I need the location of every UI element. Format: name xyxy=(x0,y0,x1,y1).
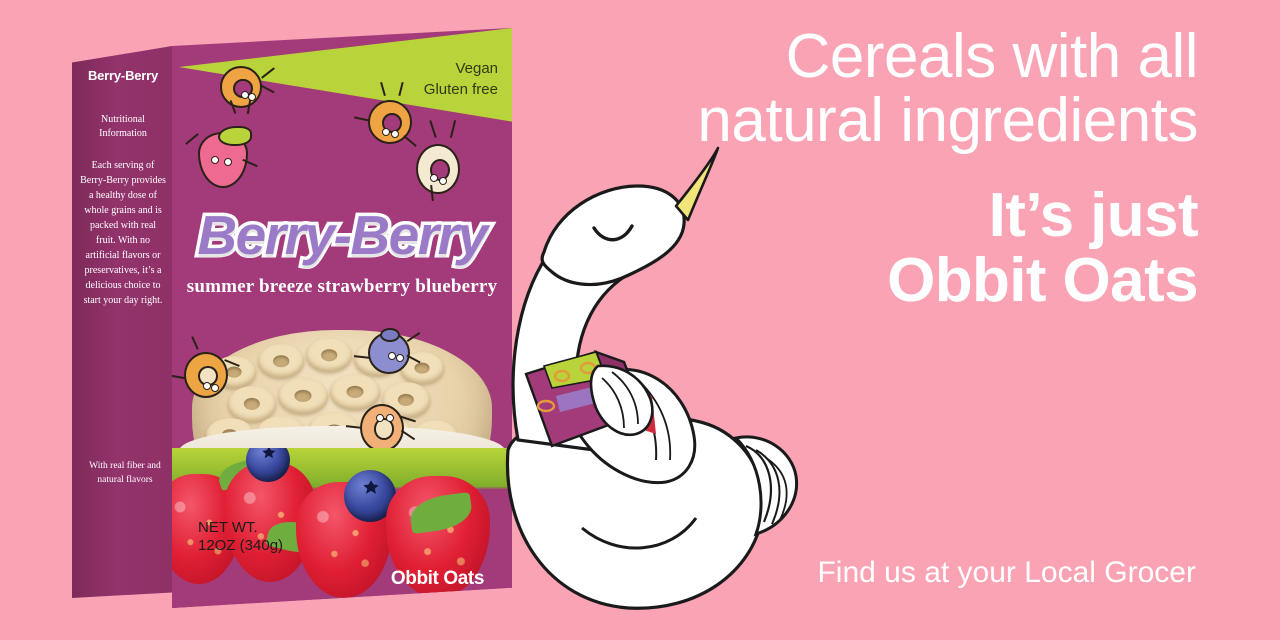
character-eye xyxy=(224,158,232,166)
character-blueberry xyxy=(368,332,410,374)
character-antenna xyxy=(450,120,456,138)
headline: Cereals with all natural ingredients xyxy=(638,24,1198,155)
oat-ring xyxy=(306,338,352,372)
oat-ring xyxy=(278,378,328,414)
headline-line-2: natural ingredients xyxy=(638,88,1198,154)
character-eye xyxy=(439,177,447,185)
badge-gluten-free-label: Gluten free xyxy=(424,79,498,100)
net-weight-line1: NET WT. xyxy=(198,519,283,538)
character-leg xyxy=(403,135,417,147)
character-eye xyxy=(386,414,394,422)
badge-vegan-label: Vegan xyxy=(424,58,498,79)
character-eye xyxy=(211,156,219,164)
character-eye xyxy=(376,414,384,422)
net-weight-line2: 12OZ (340g) xyxy=(198,537,283,556)
fruit-photo-band: NET WT. 12OZ (340g) Obbit Oats xyxy=(172,448,512,608)
character-oat-ring-peach xyxy=(360,404,404,452)
product-logo-wrap: Berry-Berry xyxy=(172,203,512,267)
oat-ring xyxy=(258,344,304,378)
character-arm xyxy=(185,133,199,145)
box-spine-content: Berry-Berry Nutritional Information Each… xyxy=(80,68,166,588)
character-eye xyxy=(211,384,219,392)
character-eye xyxy=(248,93,256,101)
net-weight: NET WT. 12OZ (340g) xyxy=(198,519,283,557)
spine-nutrition-body: Each serving of Berry-Berry provides a h… xyxy=(80,158,166,308)
product-logo: Berry-Berry xyxy=(197,203,486,267)
character-antenna xyxy=(429,120,436,138)
character-eye xyxy=(203,382,211,390)
box-front-panel: Vegan Gluten free xyxy=(172,28,512,608)
headline-line-1: Cereals with all xyxy=(786,22,1198,91)
brand-headline-line-2: Obbit Oats xyxy=(638,248,1198,314)
blueberry-crown xyxy=(380,328,400,342)
character-oat-ring-orange-1 xyxy=(220,66,262,108)
character-oat-ring-orange-2 xyxy=(368,100,412,144)
cereal-box: Berry-Berry Nutritional Information Each… xyxy=(72,28,522,608)
character-oat-ring-cream xyxy=(416,144,460,194)
character-eye xyxy=(388,352,396,360)
character-eye xyxy=(391,130,399,138)
spine-nutrition-heading-line2: Information xyxy=(99,128,147,139)
advertisement-canvas: Berry-Berry Nutritional Information Each… xyxy=(0,0,1280,640)
spine-nutrition-heading: Nutritional Information xyxy=(80,113,166,140)
character-eye xyxy=(382,128,390,136)
character-eye xyxy=(396,354,404,362)
spine-footer-note: With real fiber and natural flavors xyxy=(84,460,166,488)
brand-headline-line-1: It’s just xyxy=(989,181,1198,250)
product-subtitle: summer breeze strawberry blueberry xyxy=(172,276,512,298)
character-strawberry xyxy=(198,132,248,188)
character-eye xyxy=(430,174,438,182)
oat-ring xyxy=(228,386,276,422)
brand-mark: Obbit Oats xyxy=(391,568,484,590)
strawberry-leaf xyxy=(218,126,252,146)
dietary-badge: Vegan Gluten free xyxy=(424,58,498,101)
character-oat-ring-orange-3 xyxy=(184,352,228,398)
spine-nutrition-heading-line1: Nutritional xyxy=(101,114,145,125)
brand-headline: It’s just Obbit Oats xyxy=(638,183,1198,314)
box-spine-panel: Berry-Berry Nutritional Information Each… xyxy=(72,46,172,598)
tagline: Find us at your Local Grocer xyxy=(636,556,1196,590)
character-arm xyxy=(260,85,274,94)
character-antenna xyxy=(191,336,199,350)
spine-product-title: Berry-Berry xyxy=(80,68,166,83)
ad-copy-block: Cereals with all natural ingredients It’… xyxy=(638,24,1198,314)
